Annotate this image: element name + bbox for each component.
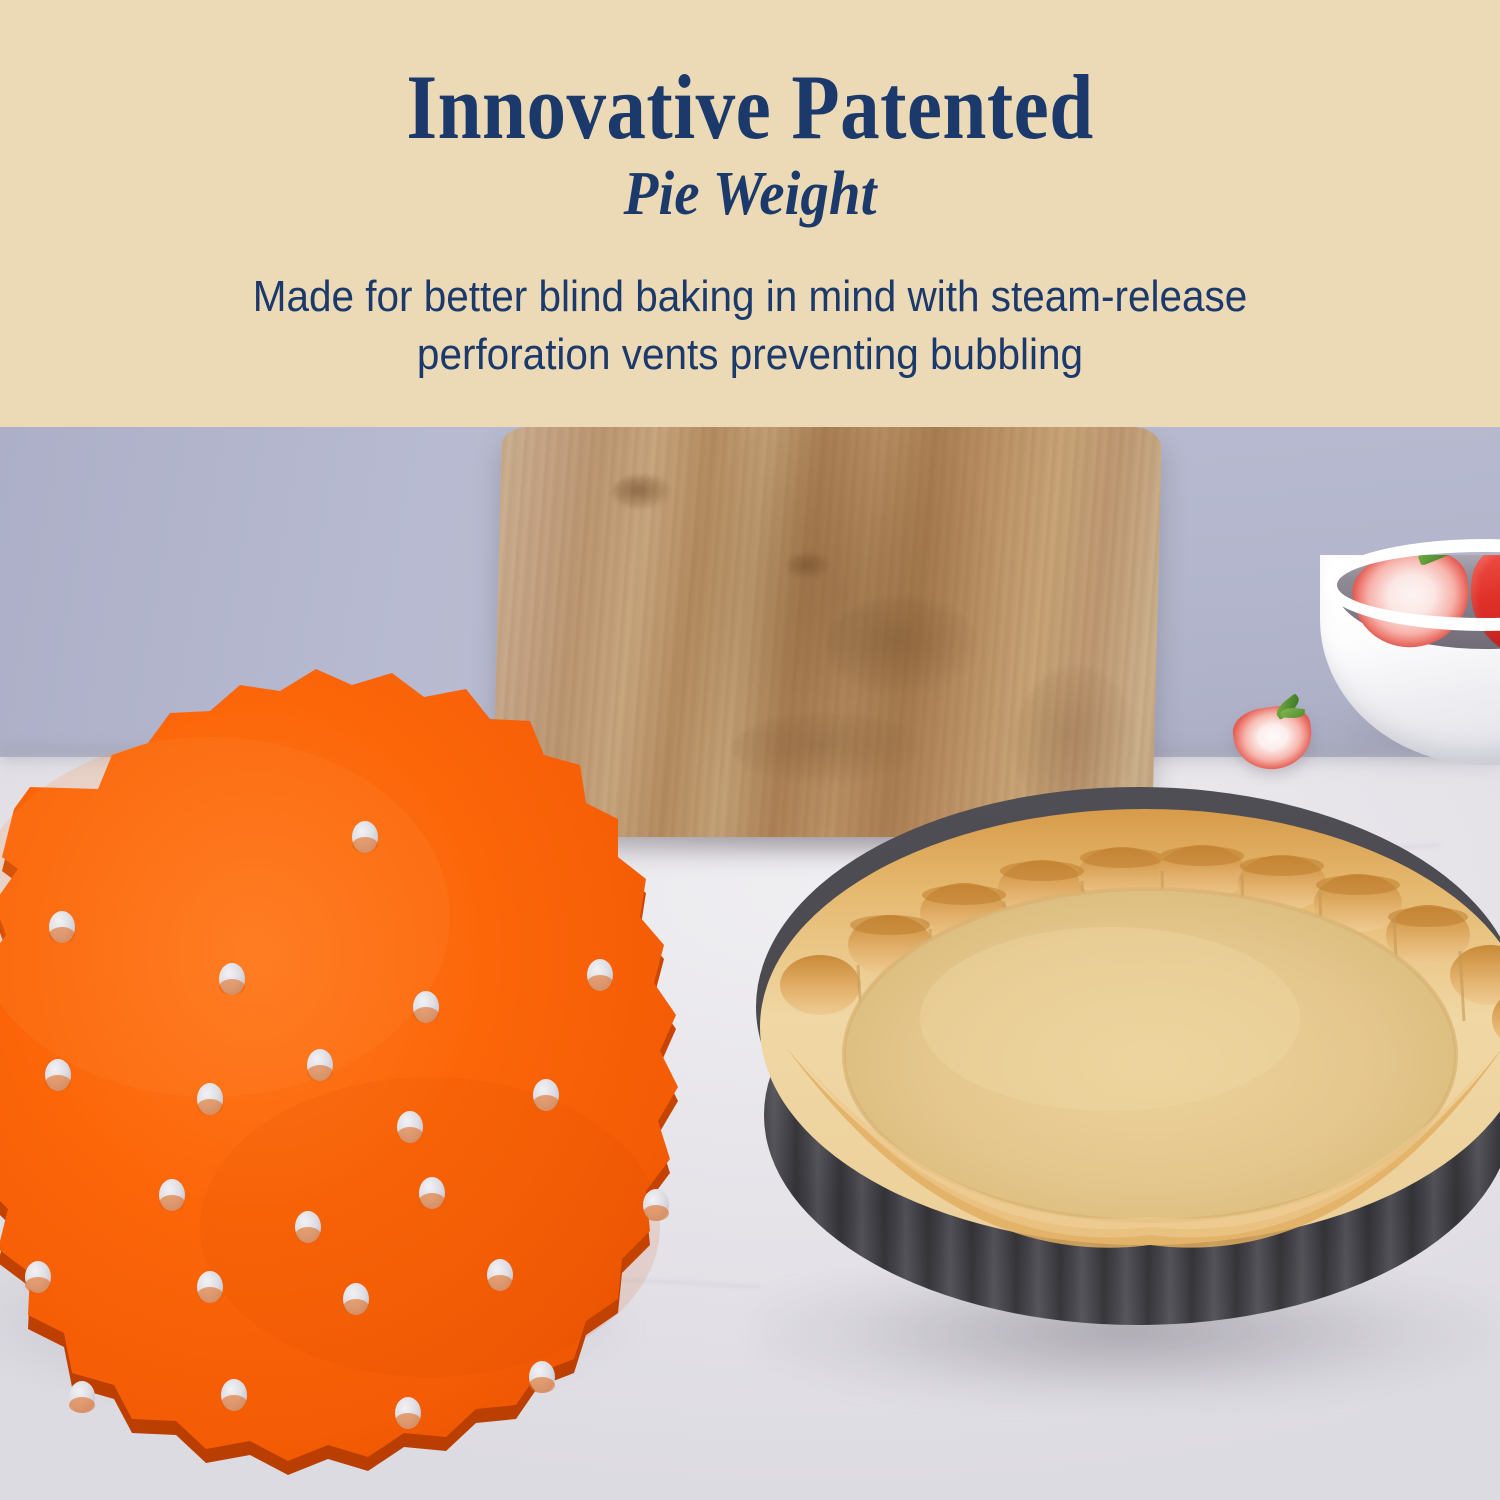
wood-knot [612,475,671,509]
strawberry-leaf [1280,707,1305,719]
disc-face [0,669,678,1461]
pastry-shell-svg [750,779,1500,1259]
description-line-1: Made for better blind baking in mind wit… [143,268,1357,326]
wood-knot [826,597,978,693]
description-text: Made for better blind baking in mind wit… [143,268,1357,384]
tart-pan [736,787,1500,1447]
wood-knot [786,553,831,579]
headline-banner: Innovative Patented Pie Weight Made for … [0,0,1500,427]
product-photo [0,427,1500,1500]
strawberry-bowl [1320,555,1500,795]
page-subtitle: Pie Weight [60,158,1440,230]
product-infographic: Innovative Patented Pie Weight Made for … [0,0,1500,1500]
page-title: Innovative Patented [105,57,1395,157]
wood-knot [731,713,923,783]
pie-weight-disc [0,587,750,1467]
pastry-shell [760,793,1500,1223]
pie-weight-svg [0,587,750,1467]
description-line-2: perforation vents preventing bubbling [143,326,1357,384]
